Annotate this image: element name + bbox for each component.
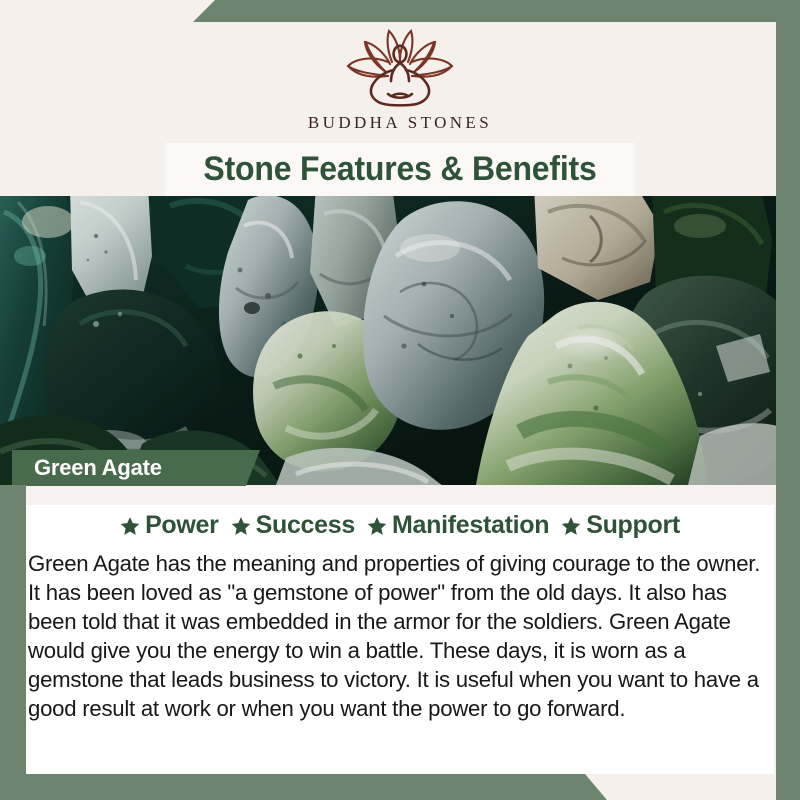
brand-logo: BUDDHA STONES: [0, 26, 800, 133]
frame-left-edge: [0, 485, 26, 800]
benefit-label: Manifestation: [392, 511, 549, 540]
frame-bottom-edge: [0, 774, 800, 800]
brand-name: BUDDHA STONES: [0, 113, 800, 133]
frame-right-edge: [776, 0, 800, 800]
star-icon: [231, 516, 251, 536]
page-title: Stone Features & Benefits: [179, 144, 621, 194]
star-icon: [561, 516, 581, 536]
benefits-row: Power Success Manifestation Support: [26, 511, 774, 540]
benefit-item-support: Support: [561, 511, 680, 540]
stone-name-label: Green Agate: [34, 450, 162, 486]
stone-photo: [0, 196, 800, 485]
lotus-meditation-icon: [344, 26, 456, 110]
stone-description: Green Agate has the meaning and properti…: [28, 549, 761, 723]
benefit-item-power: Power: [120, 511, 219, 540]
content-panel: Power Success Manifestation Support: [26, 485, 774, 774]
panel-top-tint: [26, 485, 774, 505]
benefit-label: Success: [256, 511, 355, 540]
star-icon: [367, 516, 387, 536]
benefit-label: Support: [586, 511, 680, 540]
benefit-item-success: Success: [231, 511, 355, 540]
star-icon: [120, 516, 140, 536]
stone-info-poster: BUDDHA STONES Stone Features & Benefits …: [0, 0, 800, 800]
benefit-item-manifestation: Manifestation: [367, 511, 549, 540]
benefit-label: Power: [145, 511, 219, 540]
